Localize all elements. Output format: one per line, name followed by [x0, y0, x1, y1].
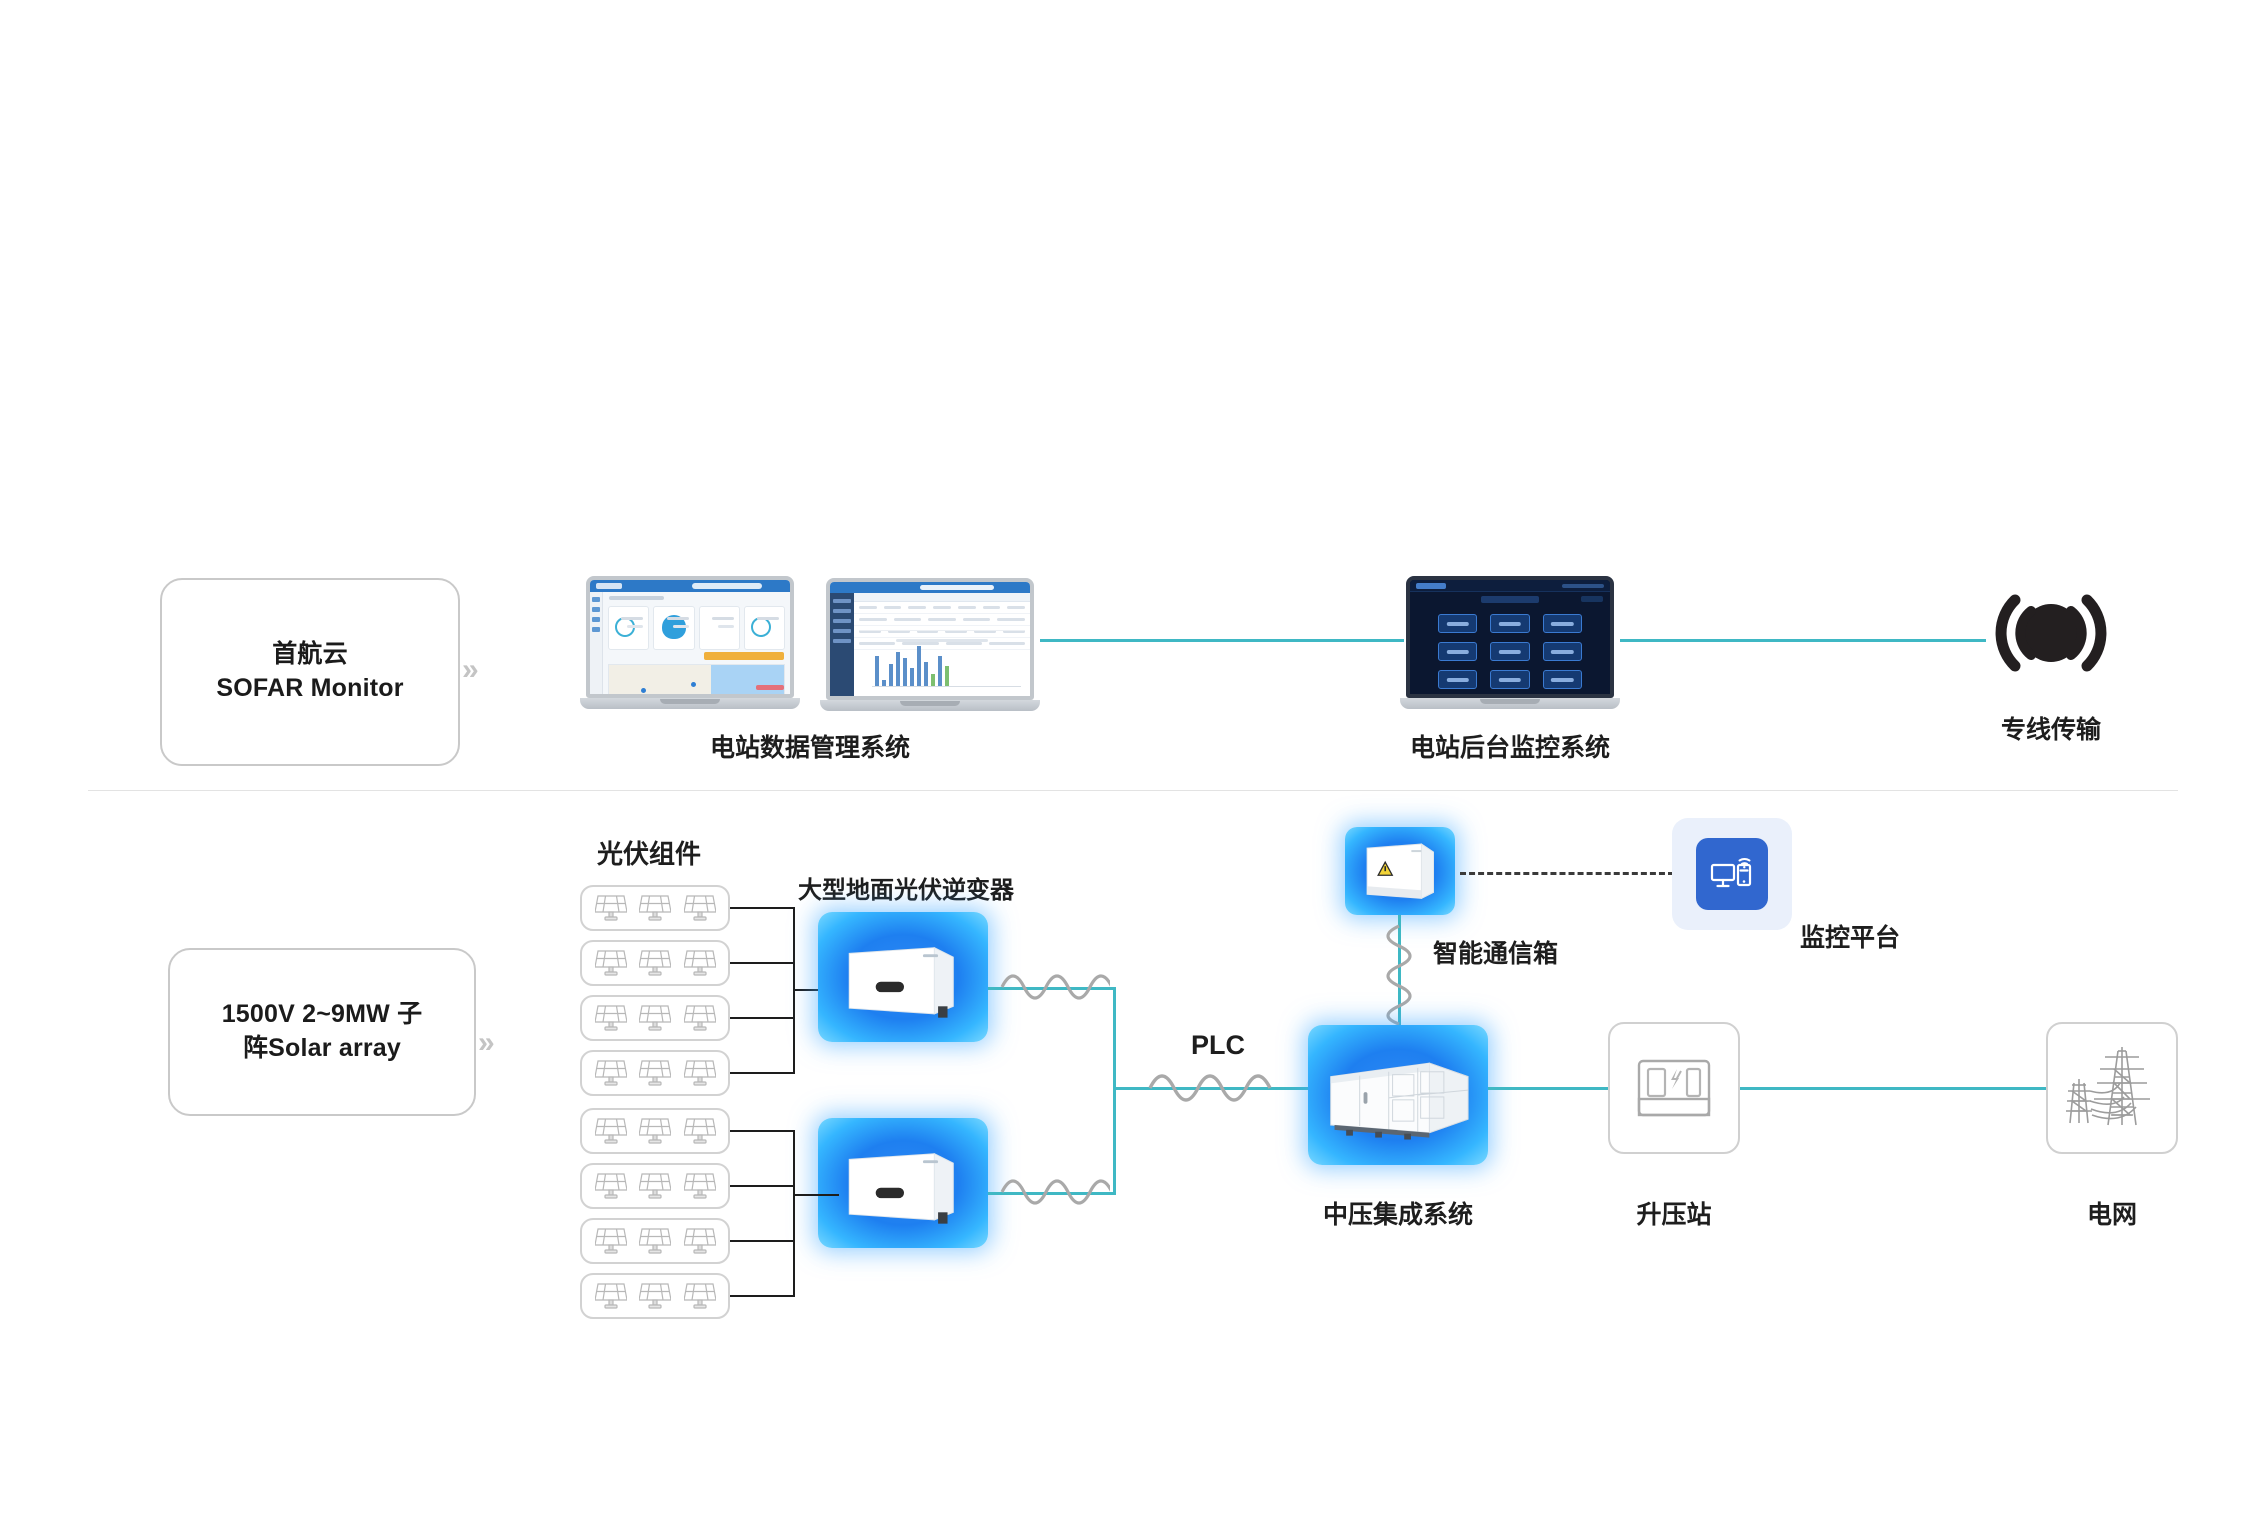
laptop-base	[1400, 698, 1620, 709]
solar-panel-icon	[684, 1003, 716, 1033]
label-smart-communication-box: 智能通信箱	[1433, 934, 1558, 970]
solar-panel-icon	[639, 1171, 671, 1201]
inverter-icon	[830, 925, 976, 1029]
transmission-tower-icon	[2064, 1043, 2160, 1133]
menu-tile[interactable]	[1543, 642, 1582, 661]
label-booster-station: 升压站	[1636, 1195, 1711, 1231]
solar-panel-icon	[595, 893, 627, 923]
section-divider	[88, 790, 2178, 791]
grid-card[interactable]	[2046, 1022, 2178, 1154]
screen-data-report	[830, 582, 1030, 696]
solar-panel-icon	[595, 1281, 627, 1311]
solar-panel-icon	[639, 1003, 671, 1033]
solar-panel-icon	[684, 1116, 716, 1146]
ac-bus-riser	[1113, 987, 1116, 1195]
solar-panel-icon	[639, 1226, 671, 1256]
solar-panel-icon	[595, 948, 627, 978]
link-booster-to-grid	[1740, 1087, 2070, 1090]
solar-panel-icon	[684, 1058, 716, 1088]
label-plc: PLC	[1191, 1030, 1245, 1061]
label-data-management-system: 电站数据管理系统	[710, 728, 910, 764]
menu-tile[interactable]	[1438, 642, 1477, 661]
solar-panel-icon	[595, 1003, 627, 1033]
menu-tile[interactable]	[1543, 670, 1582, 689]
link-mv-to-booster	[1488, 1087, 1608, 1090]
tag-solar-array-line2: 阵Solar array	[222, 1032, 423, 1066]
menu-tile[interactable]	[1490, 614, 1529, 633]
pv-module-row[interactable]	[580, 940, 730, 986]
broadcast-signal-icon	[1985, 578, 2117, 688]
laptop-base	[580, 698, 800, 709]
pv-module-row[interactable]	[580, 1108, 730, 1154]
coil-icon	[1375, 922, 1423, 1037]
inverter-card-1[interactable]	[818, 912, 988, 1042]
label-pv-modules: 光伏组件	[597, 834, 701, 871]
pv-bus-stub	[730, 1017, 794, 1019]
link-report-to-backend	[1040, 639, 1404, 642]
pv-module-row[interactable]	[580, 995, 730, 1041]
tag-solar-array-chevron-icon: »	[478, 1028, 495, 1058]
solar-panel-icon	[595, 1116, 627, 1146]
solar-panel-icon	[684, 1226, 716, 1256]
link-backend-to-dedicated-line	[1620, 639, 1986, 642]
pv-bus-stub	[730, 1185, 794, 1187]
pv-module-row[interactable]	[580, 1163, 730, 1209]
communication-box-card[interactable]	[1345, 827, 1455, 915]
sine-wave-icon	[1148, 1063, 1288, 1113]
pv-module-row[interactable]	[580, 1273, 730, 1319]
monitor-platform-card[interactable]	[1672, 818, 1792, 930]
label-dedicated-line-transmission: 专线传输	[2001, 710, 2101, 746]
diagram-canvas: 首航云 SOFAR Monitor »	[0, 0, 2265, 1530]
communication-cabinet-icon	[1353, 836, 1448, 906]
pv-bus-to-inverter	[793, 1194, 839, 1196]
label-backend-monitoring-system: 电站后台监控系统	[1410, 728, 1610, 764]
solar-panel-icon	[639, 1116, 671, 1146]
pv-module-row[interactable]	[580, 1050, 730, 1096]
label-monitor-platform: 监控平台	[1800, 918, 1900, 954]
laptop-data-management[interactable]	[580, 576, 800, 716]
solar-panel-icon	[639, 1281, 671, 1311]
screen-data-management	[590, 580, 790, 694]
solar-panel-icon	[595, 1226, 627, 1256]
switchgear-cabinet-icon	[1635, 1055, 1713, 1121]
solar-panel-icon	[684, 1281, 716, 1311]
solar-panel-icon	[639, 893, 671, 923]
label-mv-integrated-system: 中压集成系统	[1323, 1195, 1473, 1231]
laptop-lid	[586, 576, 794, 698]
screen-backend-monitoring	[1410, 580, 1610, 694]
pv-module-row[interactable]	[580, 1218, 730, 1264]
tag-sofar-cloud-chevron-icon: »	[462, 655, 479, 685]
pv-bus-stub	[730, 907, 794, 909]
laptop-backend-monitoring[interactable]	[1400, 576, 1620, 716]
menu-tile[interactable]	[1490, 642, 1529, 661]
solar-panel-icon	[684, 1171, 716, 1201]
solar-panel-icon	[684, 948, 716, 978]
link-commbox-to-platform	[1460, 872, 1674, 875]
pv-bus-trunk	[793, 1130, 795, 1297]
label-ground-pv-inverter: 大型地面光伏逆变器	[798, 870, 1014, 905]
sine-wave-icon	[1000, 1168, 1110, 1216]
menu-tile[interactable]	[1490, 670, 1529, 689]
container-skid-icon	[1321, 1039, 1476, 1151]
desktop-monitor-wifi-icon	[1709, 853, 1755, 895]
pv-module-row[interactable]	[580, 885, 730, 931]
sine-wave-icon	[1000, 963, 1110, 1011]
monitor-platform-tile	[1696, 838, 1768, 910]
tag-sofar-cloud-line1: 首航云	[216, 638, 403, 672]
laptop-data-report[interactable]	[820, 578, 1040, 718]
pv-bus-stub	[730, 1240, 794, 1242]
laptop-lid	[826, 578, 1034, 700]
booster-station-card[interactable]	[1608, 1022, 1740, 1154]
laptop-lid	[1406, 576, 1614, 698]
tag-solar-array-line1: 1500V 2~9MW 子	[222, 998, 423, 1032]
menu-tile[interactable]	[1438, 670, 1477, 689]
laptop-base	[820, 700, 1040, 711]
pv-bus-stub	[730, 962, 794, 964]
pv-bus-stub	[730, 1295, 794, 1297]
pv-bus-stub	[730, 1130, 794, 1132]
inverter-icon	[830, 1131, 976, 1235]
solar-panel-icon	[595, 1171, 627, 1201]
label-power-grid: 电网	[2087, 1195, 2137, 1231]
menu-tile[interactable]	[1438, 614, 1477, 633]
menu-tile[interactable]	[1543, 614, 1582, 633]
tag-sofar-cloud[interactable]: 首航云 SOFAR Monitor	[160, 578, 460, 766]
mv-system-card[interactable]	[1308, 1025, 1488, 1165]
solar-panel-icon	[639, 1058, 671, 1088]
solar-panel-icon	[595, 1058, 627, 1088]
solar-panel-icon	[684, 893, 716, 923]
solar-panel-icon	[639, 948, 671, 978]
tag-sofar-cloud-line2: SOFAR Monitor	[216, 672, 403, 706]
tag-solar-array[interactable]: 1500V 2~9MW 子 阵Solar array	[168, 948, 476, 1116]
pv-bus-stub	[730, 1072, 794, 1074]
inverter-card-2[interactable]	[818, 1118, 988, 1248]
